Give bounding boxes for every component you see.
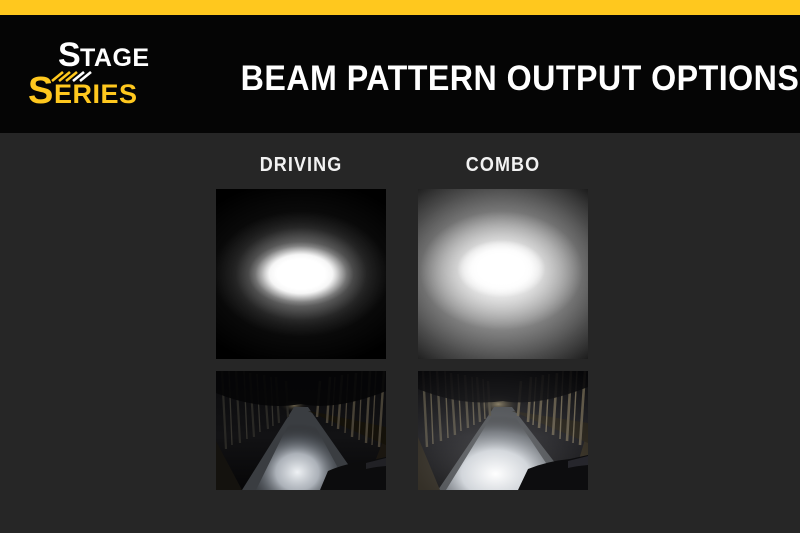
combo-beam-pattern [418, 189, 588, 359]
beam-pattern-infographic: S TAGE S ERIES BEAM PATTERN OUTPUT OPTIO… [0, 0, 800, 533]
svg-text:S: S [28, 70, 52, 110]
column-label-combo: COMBO [427, 133, 580, 176]
combo-beam-glow [418, 189, 588, 359]
stage-series-logo: S TAGE S ERIES [22, 32, 182, 110]
svg-text:TAGE: TAGE [80, 44, 150, 72]
page-title: BEAM PATTERN OUTPUT OPTIONS [241, 60, 762, 98]
svg-text:ERIES: ERIES [54, 79, 138, 109]
driving-beam-glow [216, 189, 386, 359]
combo-road-night-photo [418, 371, 588, 490]
content-area: DRIVING [0, 133, 800, 533]
column-label-driving: DRIVING [225, 133, 378, 176]
column-driving: DRIVING [216, 133, 386, 490]
column-combo: COMBO [418, 133, 588, 490]
driving-beam-pattern [216, 189, 386, 359]
top-accent-bar [0, 0, 800, 15]
svg-text:S: S [58, 36, 80, 74]
driving-road-night-photo [216, 371, 386, 490]
